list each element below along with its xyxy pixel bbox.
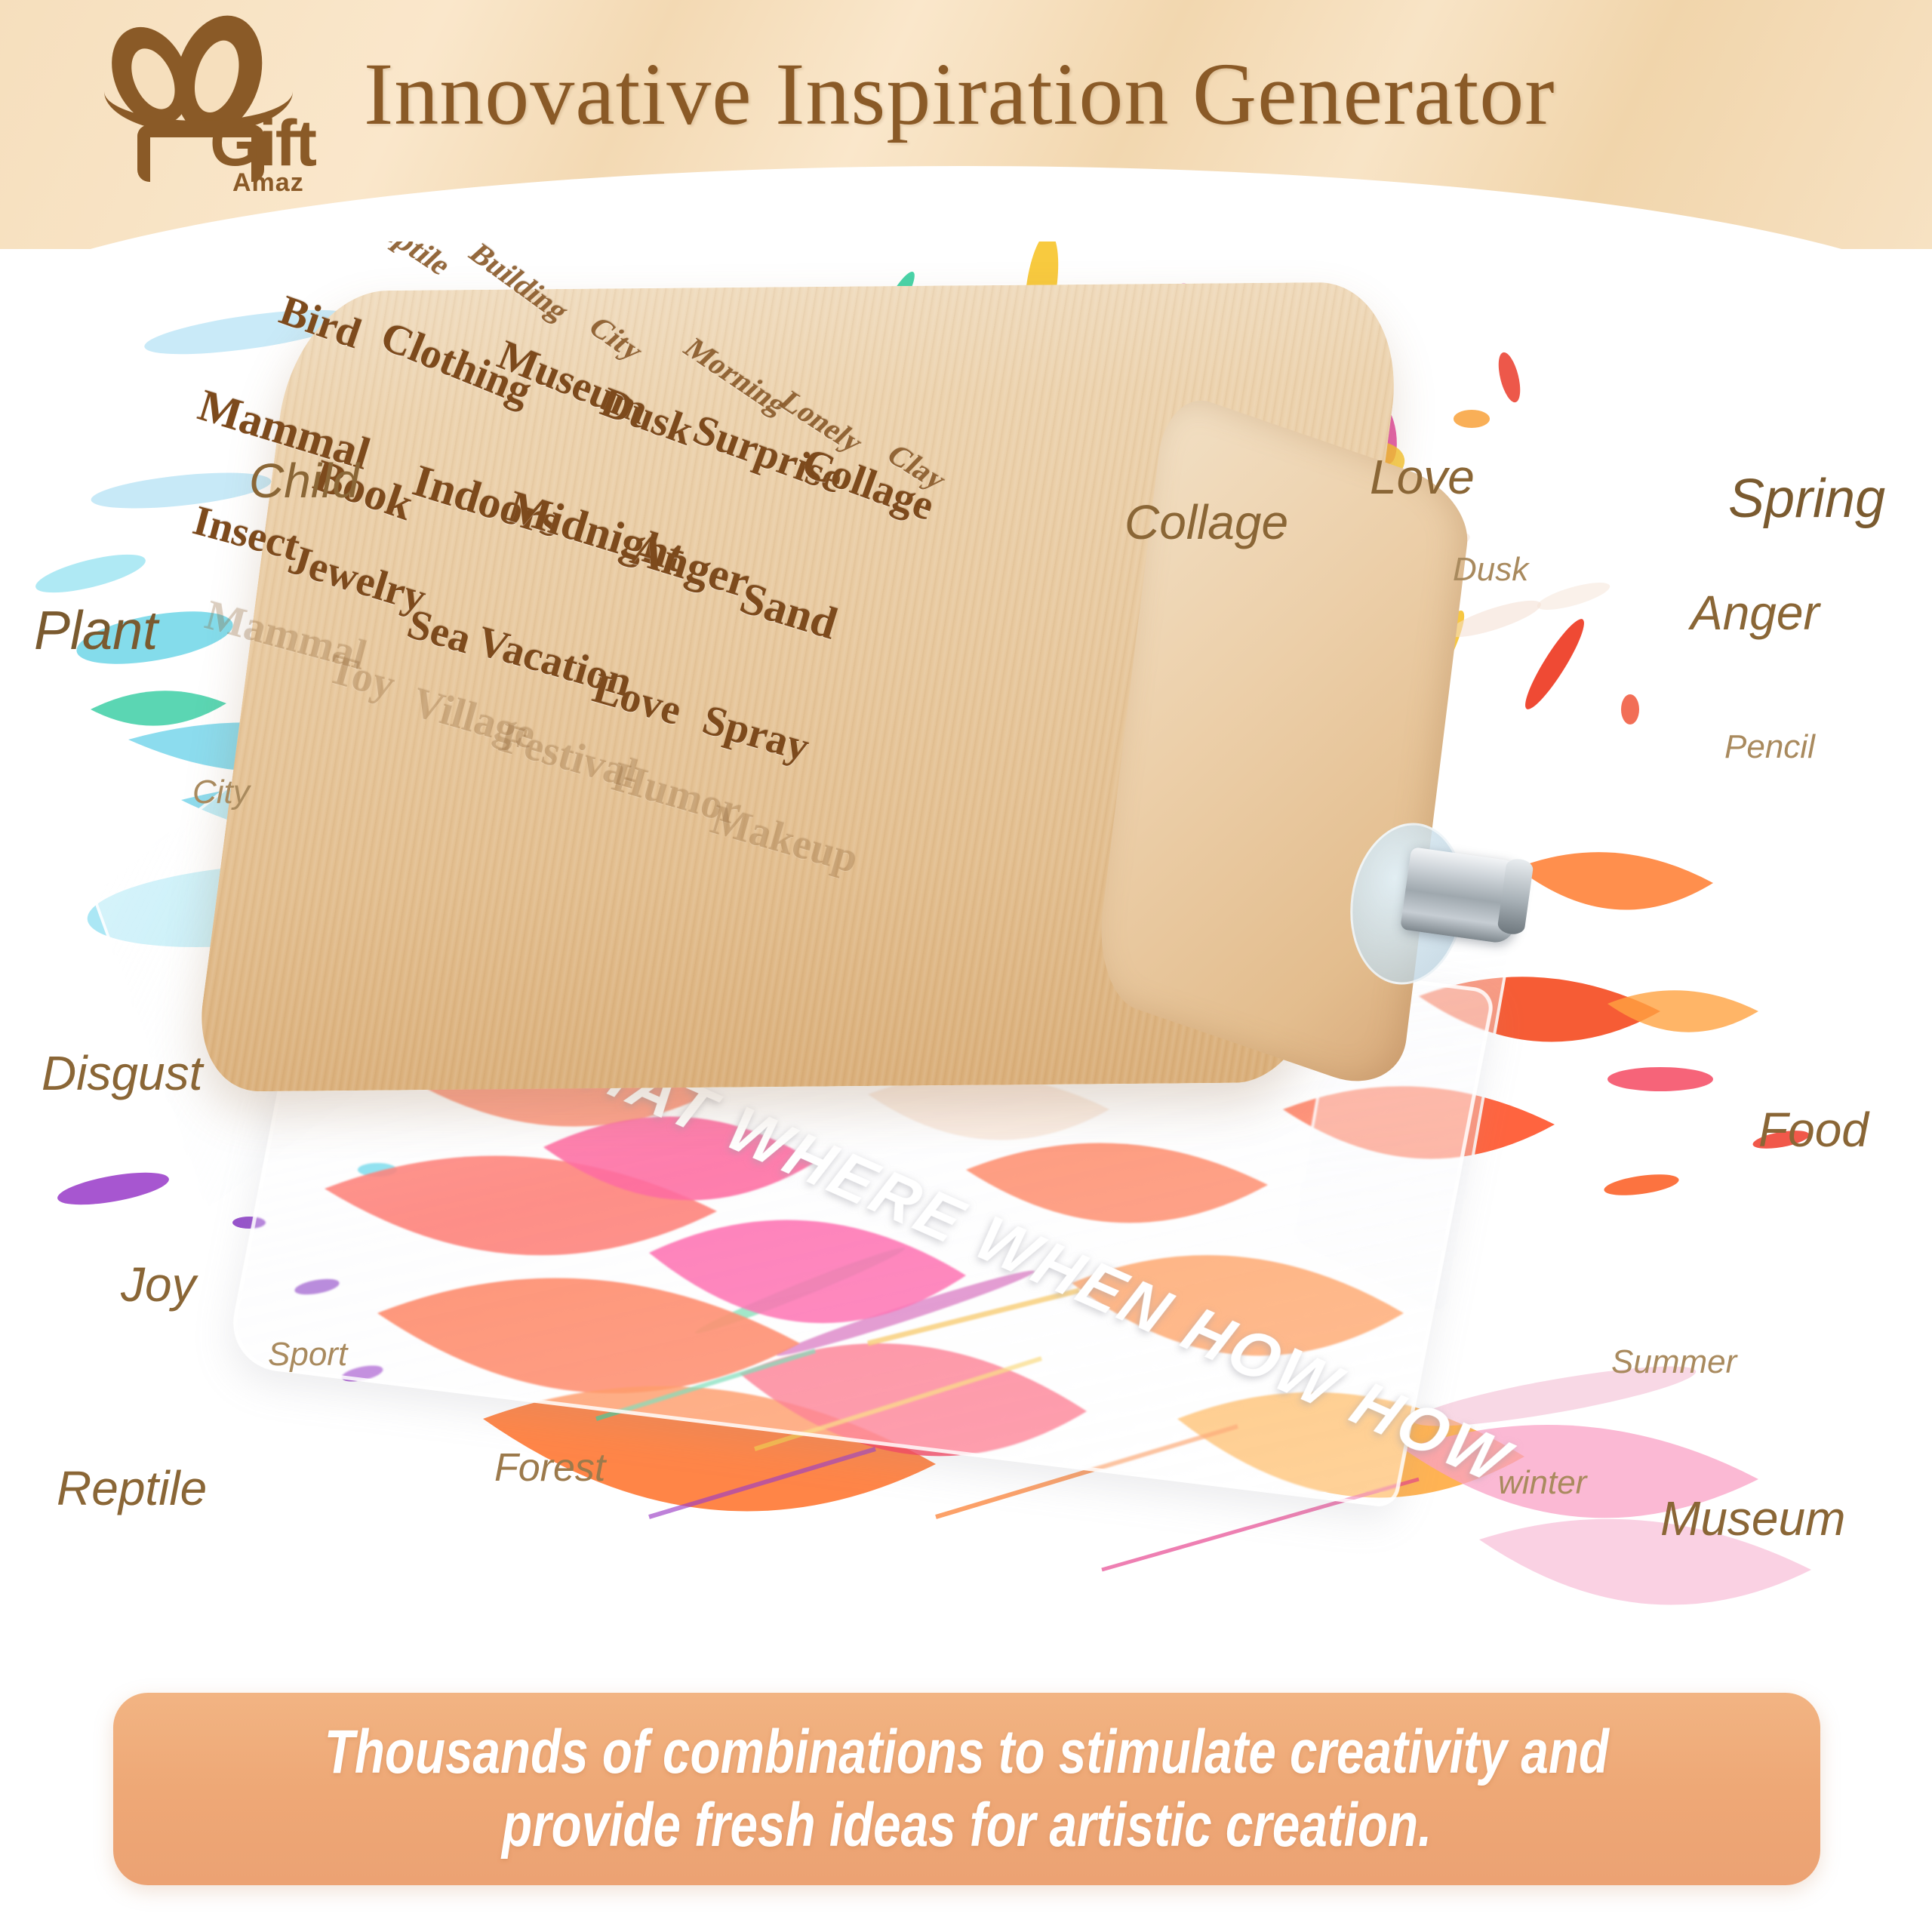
floating-word: Forest [494,1445,605,1491]
floating-word: Sport [268,1336,347,1374]
product-scene: WHO WHAT WHERE WHEN HOW HOW Reptile Buil… [0,241,1932,1751]
floating-word: Anger [1690,585,1820,641]
floating-word: winter [1498,1464,1586,1502]
footer-caption-line-1: Thousands of combinations to stimulate c… [325,1716,1609,1789]
floating-word: Summer [1611,1343,1737,1381]
floating-word: Collage [1124,494,1288,550]
page-title: Innovative Inspiration Generator [364,43,1555,146]
floating-word: Spring [1728,468,1885,530]
floating-word: Pencil [1724,728,1815,766]
floating-word: Child [249,453,359,509]
block-word-upper-1: Bird [274,286,368,358]
header-inner: Gift Amaz Innovative Inspiration Generat… [0,0,1932,189]
header-banner: Gift Amaz Innovative Inspiration Generat… [0,0,1932,249]
floating-word: City [192,774,250,811]
footer-caption-banner: Thousands of combinations to stimulate c… [113,1693,1820,1885]
floating-word: Disgust [42,1045,202,1101]
block-word-top-1: Reptile [357,241,460,281]
floating-word: Reptile [57,1460,207,1516]
floating-word: Food [1758,1102,1869,1158]
floating-word: Plant [34,600,158,662]
brand-logo: Gift Amaz [98,19,325,170]
footer-caption-line-2: provide fresh ideas for artistic creatio… [502,1789,1432,1863]
floating-word: Dusk [1453,551,1528,589]
floating-word: Museum [1660,1491,1845,1546]
floating-word: Joy [121,1257,196,1312]
wooden-roller-blocks[interactable]: Reptile Building City Morning Lonely Cla… [249,241,1683,1336]
brand-word-amaz: Amaz [232,170,304,195]
brand-word-gift: Gift [210,111,315,176]
floating-word: Love [1370,449,1475,505]
